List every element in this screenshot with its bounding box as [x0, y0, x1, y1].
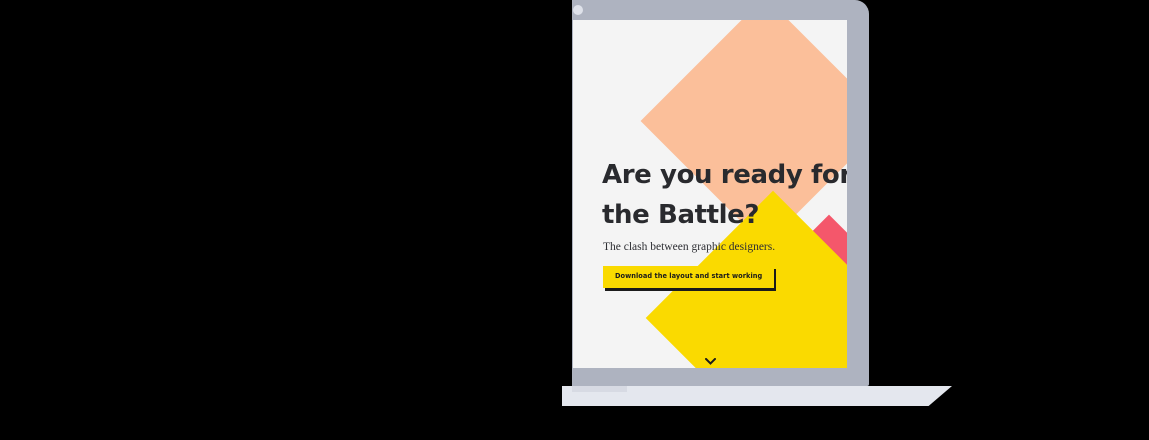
hero-headline: Are you ready for the Battle?	[602, 155, 847, 235]
laptop-mockup: Are you ready for the Battle? The clash …	[572, 0, 870, 440]
cta-wrapper: Download the layout and start working	[603, 266, 774, 288]
scroll-down-hint[interactable]	[573, 358, 847, 365]
laptop-screen: Are you ready for the Battle? The clash …	[573, 20, 847, 368]
hero-section: Are you ready for the Battle? The clash …	[573, 20, 847, 368]
hero-subtitle: The clash between graphic designers.	[603, 240, 775, 254]
chevron-down-icon	[705, 358, 716, 365]
webcam-dot-icon	[573, 5, 583, 15]
stage: Are you ready for the Battle? The clash …	[0, 0, 1149, 440]
laptop-base-bar	[572, 369, 869, 386]
laptop-lid: Are you ready for the Battle? The clash …	[572, 0, 869, 381]
laptop-hinge-shadow	[572, 386, 627, 392]
download-layout-button[interactable]: Download the layout and start working	[603, 266, 774, 288]
